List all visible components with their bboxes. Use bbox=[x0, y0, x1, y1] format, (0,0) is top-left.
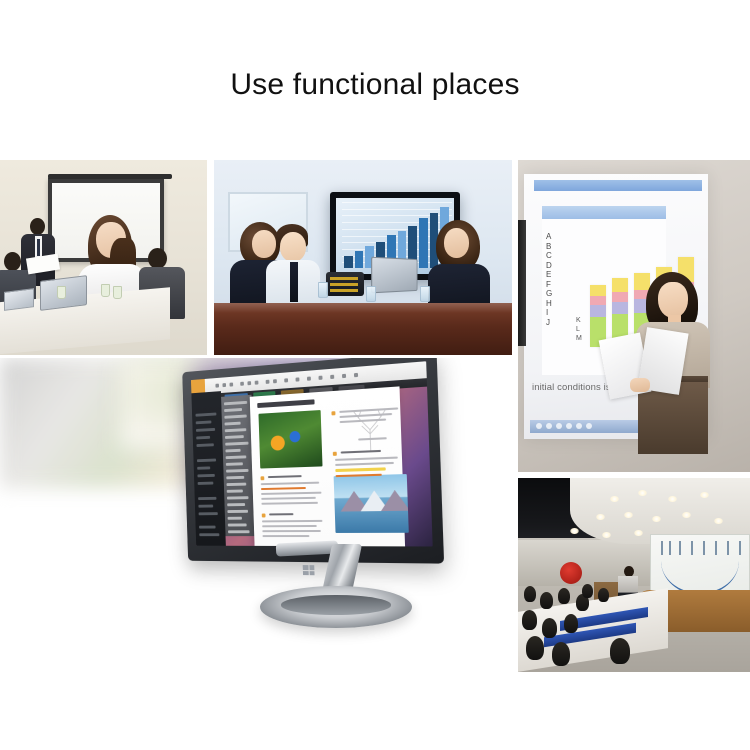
slide-bar-B1 bbox=[590, 285, 606, 347]
legend-label-D: D bbox=[546, 261, 560, 271]
document-page bbox=[250, 386, 405, 546]
slide-legend-labels: ABCDEFGHIJ bbox=[546, 232, 560, 327]
tablet-monitor bbox=[182, 358, 444, 564]
segment-pink bbox=[612, 292, 628, 302]
windows-logo-icon bbox=[303, 565, 315, 575]
woman-left-face bbox=[252, 230, 276, 258]
page-title: Use functional places bbox=[0, 68, 750, 102]
water-glass-3 bbox=[420, 286, 430, 302]
segment-lavender bbox=[612, 302, 628, 315]
legend-label-E: E bbox=[546, 270, 560, 280]
conference-phone bbox=[326, 272, 364, 296]
man-face bbox=[280, 232, 306, 262]
standing-man-head bbox=[30, 218, 45, 235]
legend-label-I: I bbox=[546, 308, 560, 318]
slide-legend-klm: KLM bbox=[576, 316, 582, 343]
page-root: Use functional places bbox=[0, 0, 750, 750]
segment-yellow bbox=[612, 278, 628, 292]
cup-3 bbox=[113, 286, 122, 299]
legend-label-C: C bbox=[546, 251, 560, 261]
screen-text-lines bbox=[657, 541, 743, 557]
man-tie bbox=[290, 262, 298, 302]
cup-1 bbox=[57, 286, 66, 299]
bar-1 bbox=[344, 256, 353, 268]
laptop-secondary bbox=[4, 288, 34, 311]
tablet-screen bbox=[191, 361, 433, 546]
standing-man-tie bbox=[37, 239, 40, 256]
legend-label-G: G bbox=[546, 289, 560, 299]
photo-presenter: ABCDEFGHIJ KLM initial conditions is not… bbox=[518, 160, 750, 472]
cup-2 bbox=[101, 284, 110, 297]
segment-lavender bbox=[590, 305, 606, 317]
photo-birds bbox=[258, 410, 322, 469]
slide-window-titlebar bbox=[534, 180, 702, 191]
legend-label-A: A bbox=[546, 232, 560, 242]
screen-frame-edge bbox=[518, 220, 526, 346]
legend-label-F: F bbox=[546, 280, 560, 290]
legend-label-J: J bbox=[546, 318, 560, 328]
boardroom-laptop bbox=[371, 257, 417, 294]
monitor-stand-base bbox=[260, 586, 412, 628]
photo-lecture-hall bbox=[518, 478, 750, 672]
red-decoration bbox=[560, 562, 582, 584]
water-glass-2 bbox=[366, 286, 376, 302]
legend-label-H: H bbox=[546, 299, 560, 309]
photo-laser-tablet bbox=[0, 358, 512, 650]
bar-8 bbox=[419, 218, 428, 268]
water-glass-1 bbox=[318, 282, 328, 298]
slide-window-toolbar bbox=[542, 206, 666, 219]
photo-office-meeting bbox=[0, 160, 207, 355]
document-heading bbox=[257, 399, 314, 408]
bar-2 bbox=[355, 251, 364, 268]
woman-right-face bbox=[444, 228, 469, 258]
photo-boardroom bbox=[214, 160, 512, 355]
segment-yellow bbox=[590, 285, 606, 297]
legend-label-B: B bbox=[546, 242, 560, 252]
seated-man-left-head bbox=[4, 252, 21, 271]
presenter-face bbox=[658, 282, 688, 318]
seated-man-right-head bbox=[148, 248, 167, 269]
presenter-hand bbox=[630, 378, 650, 392]
segment-yellow bbox=[634, 273, 650, 289]
segment-pink bbox=[590, 296, 606, 305]
boardroom-table bbox=[214, 303, 512, 355]
photo-mountain-lake bbox=[334, 474, 409, 533]
